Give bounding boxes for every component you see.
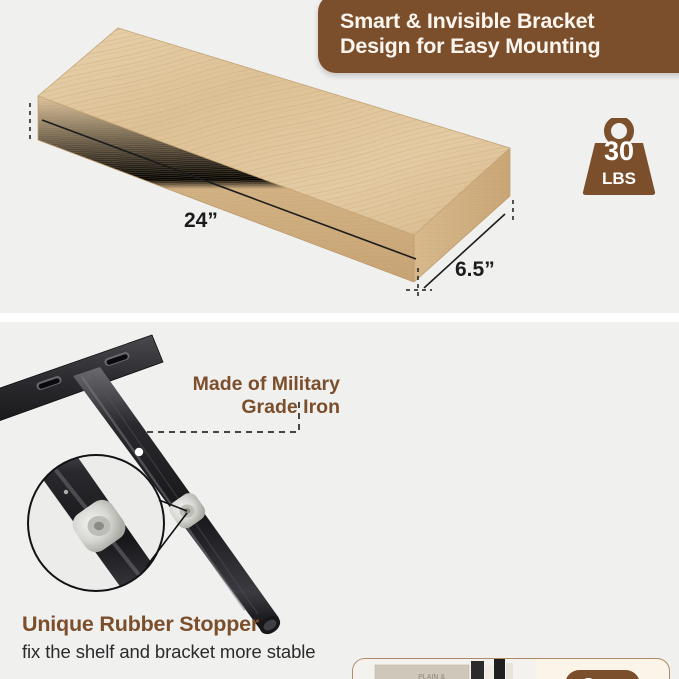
header-banner: Smart & Invisible Bracket Design for Eas… xyxy=(318,0,679,73)
product-infographic: 24” 6.5” 30 LBS Smart & Invisible Bracke… xyxy=(0,0,679,679)
header-title-line2: Design for Easy Mounting xyxy=(340,34,679,59)
header-title-line1: Smart & Invisible Bracket xyxy=(340,9,679,34)
svg-text:PLAIN &: PLAIN & xyxy=(418,674,445,679)
weight-text-group: 30 LBS xyxy=(575,138,663,187)
material-label: Made of Military Grade Iron xyxy=(155,373,340,419)
ours-shelf-photo: PLAIN & SIMPLE KIM BRENNEMAN xyxy=(353,659,536,679)
length-dimension-label: 24” xyxy=(184,209,218,233)
comparison-card-ours: PLAIN & SIMPLE KIM BRENNEMAN xyxy=(352,658,670,679)
material-label-line1: Made of Military xyxy=(155,373,340,396)
ours-info: Ours DEEPER & THICKER Create more storag… xyxy=(536,659,669,679)
shelf-overview-panel: 24” 6.5” 30 LBS Smart & Invisible Bracke… xyxy=(0,0,679,313)
stopper-subtitle: fix the shelf and bracket more stable xyxy=(22,641,315,663)
weight-unit: LBS xyxy=(575,170,663,187)
stopper-title: Unique Rubber Stopper xyxy=(22,612,259,637)
weight-value: 30 xyxy=(575,138,663,165)
ours-badge: Ours xyxy=(565,670,641,679)
section-divider xyxy=(0,313,679,322)
weight-capacity-badge: 30 LBS xyxy=(575,118,663,196)
material-label-line2: Grade Iron xyxy=(155,396,340,419)
depth-dimension-label: 6.5” xyxy=(455,258,495,282)
